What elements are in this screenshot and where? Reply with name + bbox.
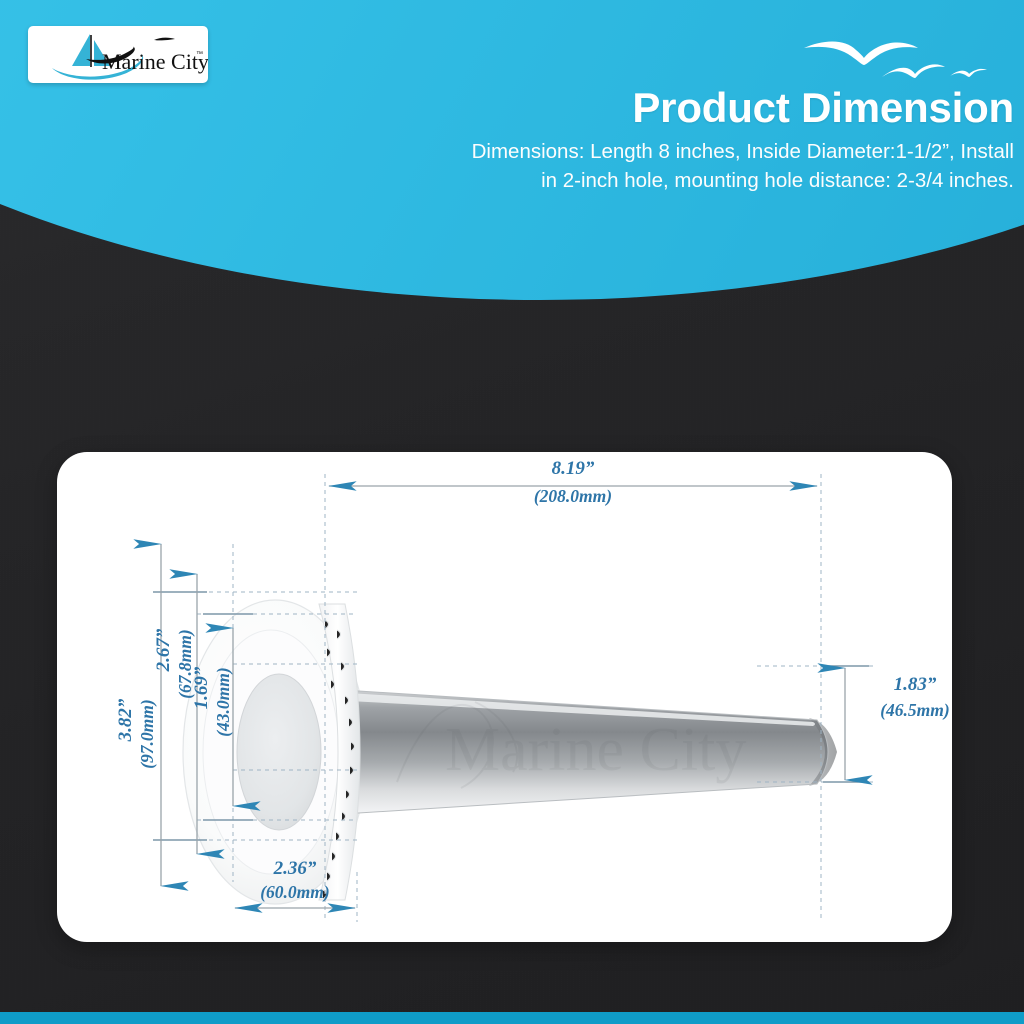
dimension-flange-width-inches: 2.36” — [273, 858, 317, 879]
dimension-flange-width-mm: (60.0mm) — [260, 882, 330, 902]
product-diagram-card: Marine City — [57, 452, 952, 942]
svg-text:Marine City: Marine City — [102, 49, 208, 74]
subtitle-line-2: in 2-inch hole, mounting hole distance: … — [224, 166, 1014, 195]
dimension-overall-length-mm: (208.0mm) — [534, 486, 612, 506]
dimension-tube-end-diameter-inches: 1.83” — [894, 674, 937, 695]
dimension-overall-length: 8.19” (208.0mm) — [329, 458, 817, 506]
dimension-mounting-hole-distance-inches: 2.67” — [153, 628, 174, 672]
marine-city-logo[interactable]: Marine City ™ — [28, 26, 208, 83]
bottom-accent-bar — [0, 1012, 1024, 1024]
header-text-block: Product Dimension Dimensions: Length 8 i… — [224, 86, 1014, 195]
dimension-flange-height-inches: 3.82” — [115, 698, 136, 742]
page-title: Product Dimension — [224, 86, 1014, 131]
dimension-inside-diameter-mm: (43.0mm) — [213, 667, 233, 737]
dimension-tube-end-diameter-mm: (46.5mm) — [880, 700, 950, 720]
svg-text:™: ™ — [196, 51, 203, 58]
svg-text:Marine City: Marine City — [445, 716, 746, 784]
dimension-overall-length-inches: 8.19” — [552, 458, 595, 479]
infographic-canvas: Marine City ™ Product Dimension Dimensio… — [0, 0, 1024, 1024]
dimension-flange-height-mm: (97.0mm) — [137, 699, 157, 769]
dimension-tube-end-diameter: 1.83” (46.5mm) — [845, 668, 950, 780]
dimension-inside-diameter-inches: 1.69” — [191, 666, 212, 709]
subtitle-line-1: Dimensions: Length 8 inches, Inside Diam… — [224, 137, 1014, 166]
dimension-flange-height: 3.82” (97.0mm) — [115, 544, 161, 886]
seagulls-icon — [800, 32, 990, 84]
